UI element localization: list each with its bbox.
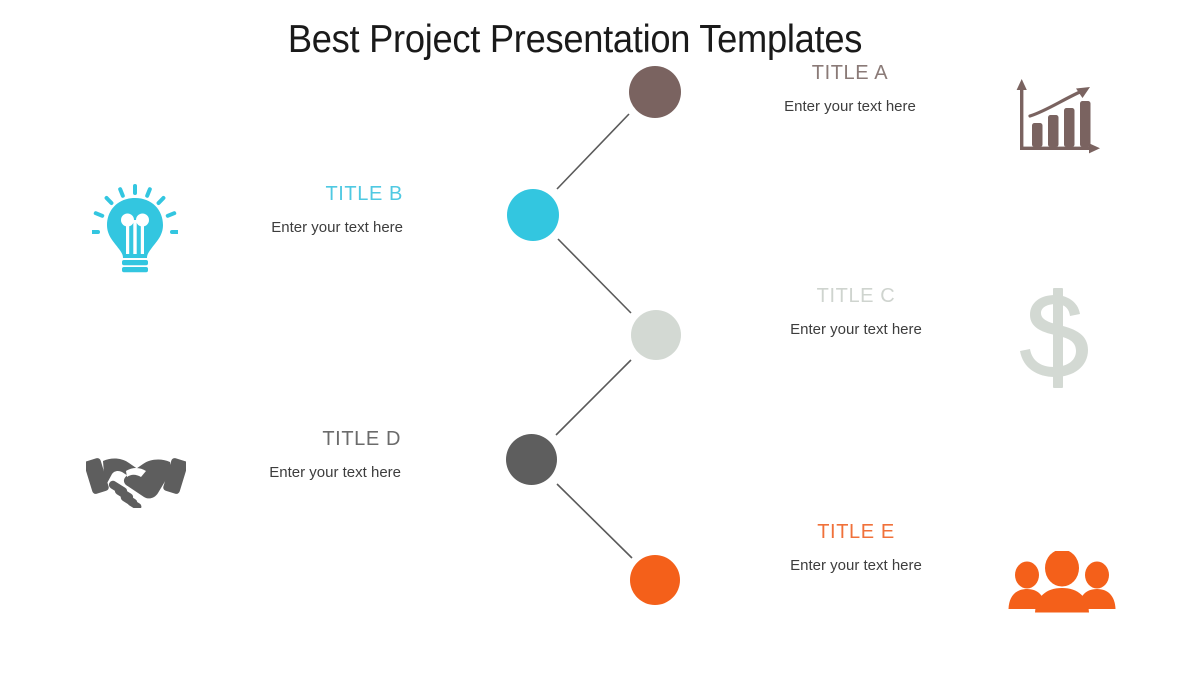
people-group-icon [1008, 551, 1116, 613]
node-description-a: Enter your text here [700, 98, 1000, 116]
lightbulb-icon [92, 184, 178, 276]
presentation-slide: Best Project Presentation Templates TITL… [0, 0, 1200, 675]
connector-a-b [557, 114, 629, 189]
text-block-c: TITLE C Enter your text here [706, 285, 1006, 339]
node-description-c: Enter your text here [706, 321, 1006, 339]
connector-c-d [556, 360, 631, 435]
node-circle-a[interactable] [629, 66, 681, 118]
page-title: Best Project Presentation Templates [40, 18, 1110, 62]
connector-d-e [557, 484, 632, 558]
node-circle-e[interactable] [630, 555, 680, 605]
node-circle-b[interactable] [507, 189, 559, 241]
bar-chart-icon [1010, 76, 1102, 160]
text-block-e: TITLE E Enter your text here [706, 521, 1006, 575]
text-block-a: TITLE A Enter your text here [700, 62, 1000, 116]
node-title-c: TITLE C [706, 285, 1006, 307]
node-circle-c[interactable] [631, 310, 681, 360]
node-title-e: TITLE E [706, 521, 1006, 543]
handshake-icon [86, 446, 186, 508]
node-circle-d[interactable] [506, 434, 557, 485]
connector-b-c [558, 239, 631, 313]
node-title-a: TITLE A [700, 62, 1000, 84]
node-description-e: Enter your text here [706, 557, 1006, 575]
dollar-sign-icon [1020, 288, 1096, 388]
